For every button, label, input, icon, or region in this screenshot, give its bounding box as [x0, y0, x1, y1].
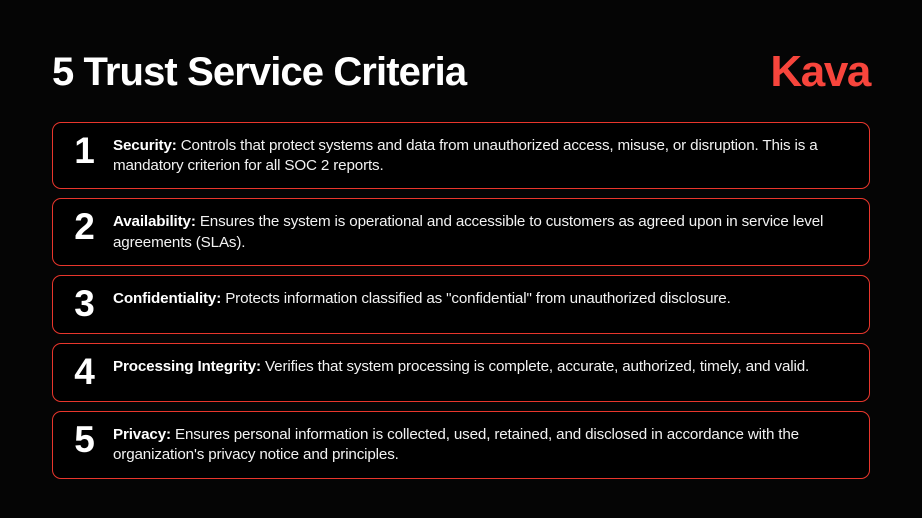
list-item[interactable]: 5 Privacy: Ensures personal information …: [52, 411, 870, 478]
criterion-number: 1: [67, 133, 101, 168]
criterion-label: Privacy:: [113, 426, 175, 443]
kava-logo: Kava: [770, 50, 870, 94]
criterion-text: Confidentiality: Protects information cl…: [113, 287, 853, 309]
criterion-description: Ensures personal information is collecte…: [113, 426, 799, 463]
slide-root: 5 Trust Service Criteria Kava 1 Security…: [0, 0, 922, 518]
slide-header: 5 Trust Service Criteria Kava: [52, 44, 870, 100]
criterion-label: Processing Integrity:: [113, 358, 265, 375]
criterion-description: Ensures the system is operational and ac…: [113, 213, 823, 250]
criterion-number: 2: [67, 209, 101, 244]
criterion-label: Availability:: [113, 213, 200, 230]
list-item[interactable]: 3 Confidentiality: Protects information …: [52, 275, 870, 334]
criterion-description: Verifies that system processing is compl…: [265, 358, 809, 375]
list-item[interactable]: 4 Processing Integrity: Verifies that sy…: [52, 343, 870, 402]
criterion-description: Protects information classified as "conf…: [225, 290, 730, 307]
criterion-text: Security: Controls that protect systems …: [113, 134, 853, 176]
criterion-text: Availability: Ensures the system is oper…: [113, 210, 853, 252]
page-title: 5 Trust Service Criteria: [52, 52, 466, 92]
list-item[interactable]: 2 Availability: Ensures the system is op…: [52, 198, 870, 265]
criterion-number: 5: [67, 422, 101, 457]
criteria-list: 1 Security: Controls that protect system…: [52, 122, 870, 479]
criterion-label: Confidentiality:: [113, 290, 225, 307]
list-item[interactable]: 1 Security: Controls that protect system…: [52, 122, 870, 189]
criterion-label: Security:: [113, 137, 181, 154]
criterion-number: 4: [67, 354, 101, 389]
criterion-number: 3: [67, 286, 101, 321]
criterion-text: Privacy: Ensures personal information is…: [113, 423, 853, 465]
criterion-text: Processing Integrity: Verifies that syst…: [113, 355, 853, 377]
criterion-description: Controls that protect systems and data f…: [113, 137, 818, 174]
